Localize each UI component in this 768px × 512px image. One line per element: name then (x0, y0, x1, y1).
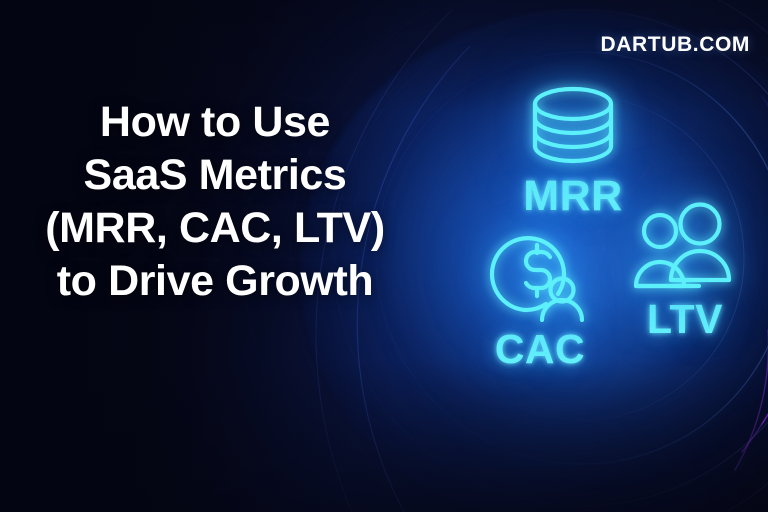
metric-label-ltv: LTV (610, 299, 760, 340)
metric-item-ltv: LTV (610, 202, 760, 340)
metric-label-cac: CAC (452, 329, 628, 370)
metric-item-mrr: MRR (478, 84, 668, 218)
title-line-3: (MRR, CAC, LTV) (0, 202, 430, 255)
metric-item-cac: CAC (452, 226, 628, 370)
thumbnail-canvas: DARTUB.COM How to Use SaaS Metrics (MRR,… (0, 0, 768, 512)
people-group-icon (610, 202, 760, 297)
site-logo-text: DARTUB.COM (601, 33, 750, 57)
dollar-circle-person-icon (452, 226, 628, 327)
database-stack-icon (478, 84, 668, 173)
page-title: How to Use SaaS Metrics (MRR, CAC, LTV) … (0, 96, 430, 308)
title-line-1: How to Use (0, 96, 430, 149)
title-line-2: SaaS Metrics (0, 149, 430, 202)
title-line-4: to Drive Growth (0, 255, 430, 308)
